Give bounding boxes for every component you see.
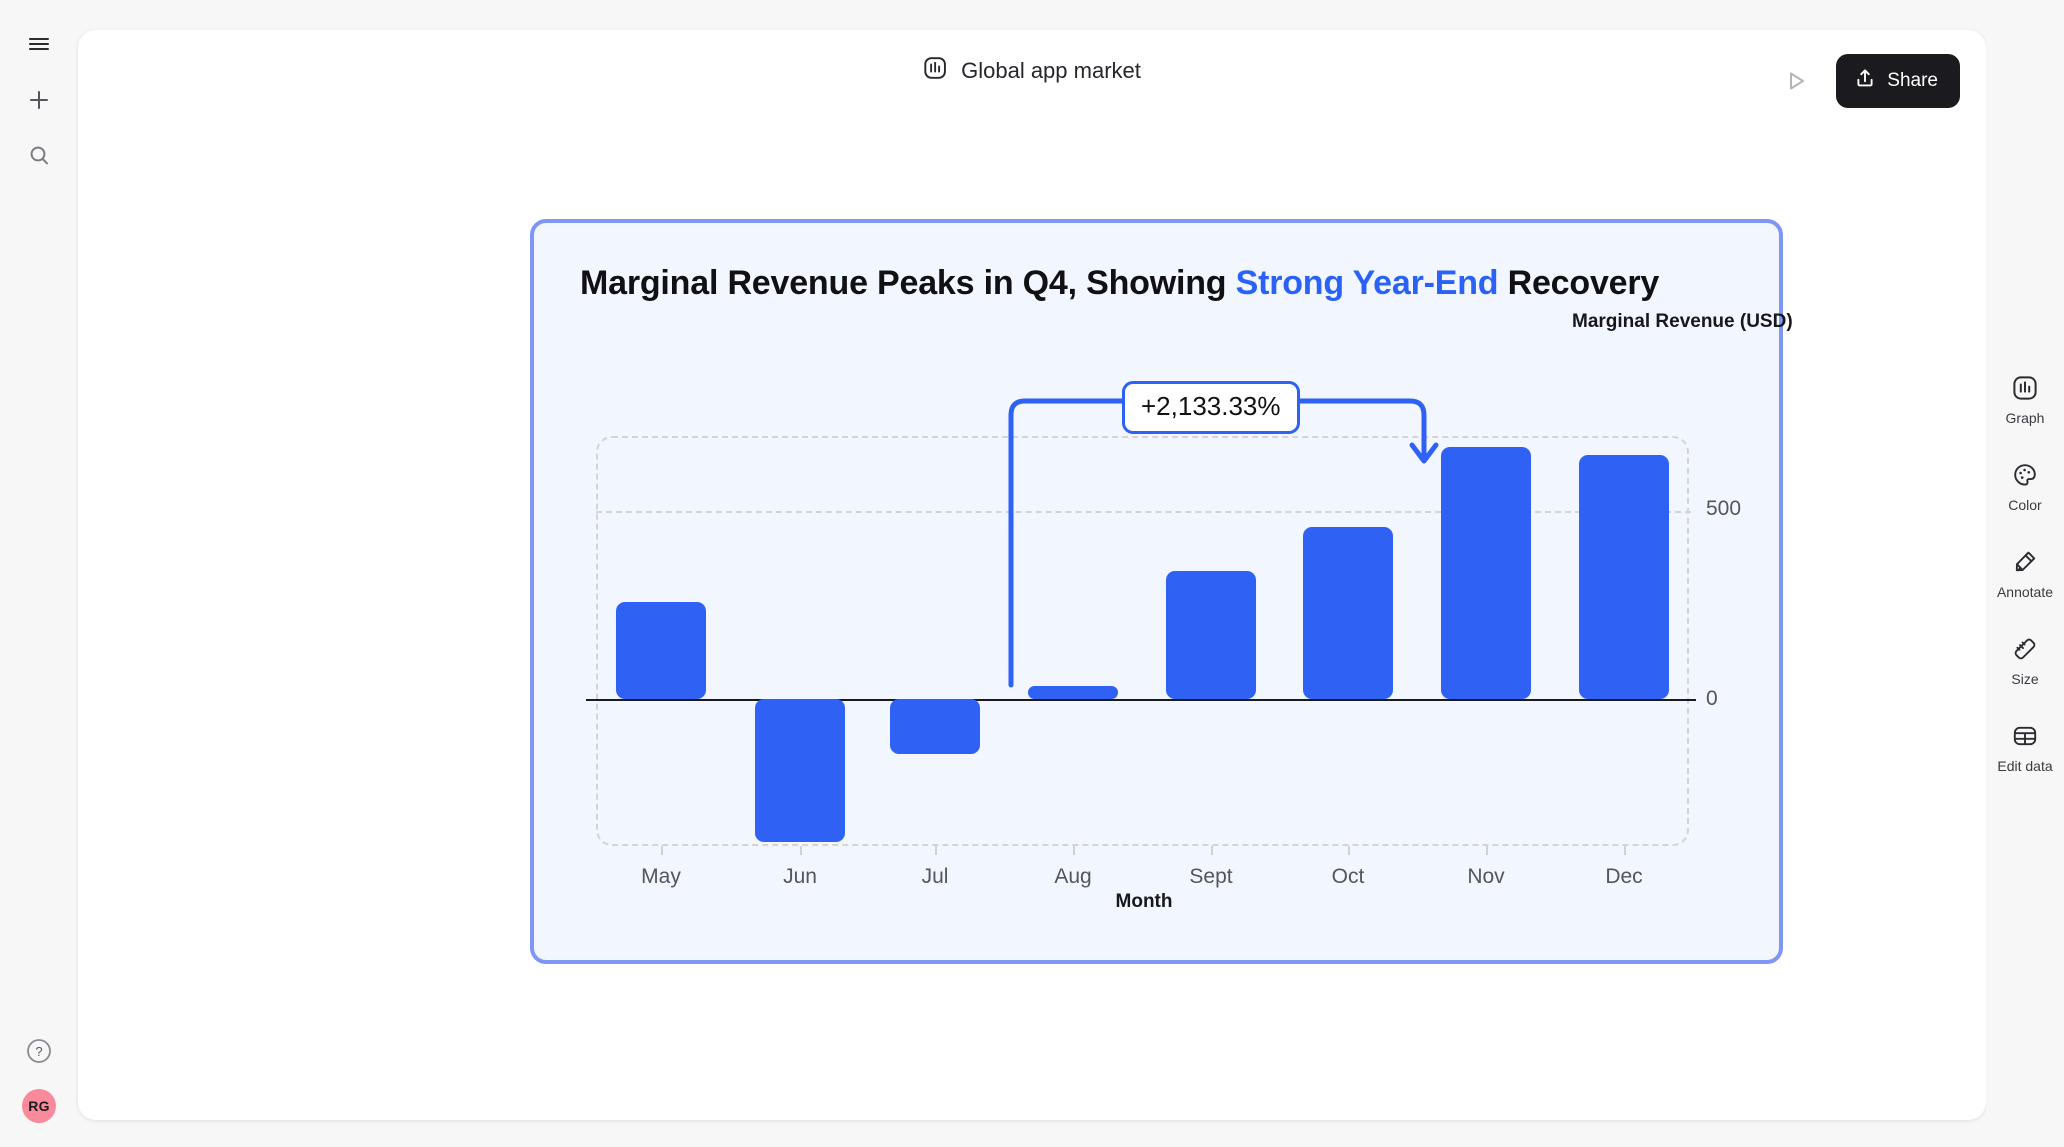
- tool-annotate[interactable]: Annotate: [1993, 547, 2057, 600]
- y-axis-title: Marginal Revenue (USD): [1572, 311, 1793, 333]
- y-tick-label-0: 0: [1706, 687, 1718, 711]
- tool-graph-label: Graph: [2006, 410, 2045, 426]
- x-label-jun: Jun: [783, 865, 817, 889]
- share-button-label: Share: [1887, 70, 1938, 92]
- graph-icon: [2012, 373, 2038, 403]
- color-palette-icon: [2012, 460, 2038, 490]
- tool-edit-data-label: Edit data: [1997, 758, 2052, 774]
- x-tickmark: [800, 846, 802, 855]
- bar-nov[interactable]: [1441, 447, 1531, 699]
- plot-wrapper: 500 0 Marginal Revenue (USD): [534, 223, 1779, 960]
- document-title: Global app market: [961, 58, 1141, 84]
- bar-oct[interactable]: [1303, 527, 1393, 699]
- right-toolbar: Graph Color: [1986, 0, 2064, 1147]
- app-root: ? RG Global a: [0, 0, 2064, 1147]
- tool-size[interactable]: Size: [1993, 634, 2057, 687]
- x-label-jul: Jul: [922, 865, 949, 889]
- x-tickmark: [661, 846, 663, 855]
- bar-jul[interactable]: [890, 699, 980, 754]
- document-title-group[interactable]: Global app market: [923, 56, 1141, 85]
- svg-text:?: ?: [35, 1044, 42, 1059]
- bar-series: [596, 436, 1689, 846]
- annotate-marker-icon: [2012, 547, 2038, 577]
- document-canvas: Global app market: [78, 30, 1986, 1120]
- avatar[interactable]: RG: [22, 1089, 56, 1123]
- tool-color-label: Color: [2008, 497, 2041, 513]
- new-icon[interactable]: [17, 78, 61, 122]
- x-tickmark: [935, 846, 937, 855]
- search-icon[interactable]: [17, 134, 61, 178]
- help-icon[interactable]: ?: [17, 1029, 61, 1073]
- bar-dec[interactable]: [1579, 455, 1669, 699]
- x-tickmark: [1073, 846, 1075, 855]
- bar-aug[interactable]: [1028, 686, 1118, 699]
- tool-graph[interactable]: Graph: [1993, 373, 2057, 426]
- chart-card[interactable]: Marginal Revenue Peaks in Q4, Showing St…: [530, 219, 1783, 964]
- tool-color[interactable]: Color: [1993, 460, 2057, 513]
- x-axis-title: Month: [1116, 891, 1173, 913]
- top-bar-actions: Share: [1778, 54, 1960, 108]
- x-label-nov: Nov: [1467, 865, 1504, 889]
- x-tickmark: [1348, 846, 1350, 855]
- left-sidebar-bottom-group: ? RG: [17, 1029, 61, 1123]
- top-bar: Global app market: [78, 30, 1986, 122]
- edit-data-table-icon: [2012, 721, 2038, 751]
- present-play-icon[interactable]: [1778, 63, 1814, 99]
- tool-edit-data[interactable]: Edit data: [1993, 721, 2057, 774]
- y-tick-label-500: 500: [1706, 497, 1741, 521]
- share-upload-icon: [1854, 67, 1876, 95]
- chart-doc-icon: [923, 56, 947, 85]
- bar-sept[interactable]: [1166, 571, 1256, 699]
- tool-size-label: Size: [2011, 671, 2038, 687]
- x-label-oct: Oct: [1332, 865, 1365, 889]
- x-tickmark: [1486, 846, 1488, 855]
- x-tickmark: [1211, 846, 1213, 855]
- tool-annotate-label: Annotate: [1997, 584, 2053, 600]
- size-ruler-icon: [2012, 634, 2038, 664]
- menu-icon[interactable]: [17, 22, 61, 66]
- bar-may[interactable]: [616, 602, 706, 699]
- left-sidebar: ? RG: [0, 0, 78, 1147]
- x-label-dec: Dec: [1605, 865, 1642, 889]
- x-label-aug: Aug: [1054, 865, 1091, 889]
- x-tickmark: [1624, 846, 1626, 855]
- annotation-percent-badge[interactable]: +2,133.33%: [1122, 381, 1300, 434]
- bar-jun[interactable]: [755, 699, 845, 842]
- share-button[interactable]: Share: [1836, 54, 1960, 108]
- left-sidebar-top-group: [17, 22, 61, 178]
- x-label-may: May: [641, 865, 681, 889]
- x-label-sept: Sept: [1189, 865, 1232, 889]
